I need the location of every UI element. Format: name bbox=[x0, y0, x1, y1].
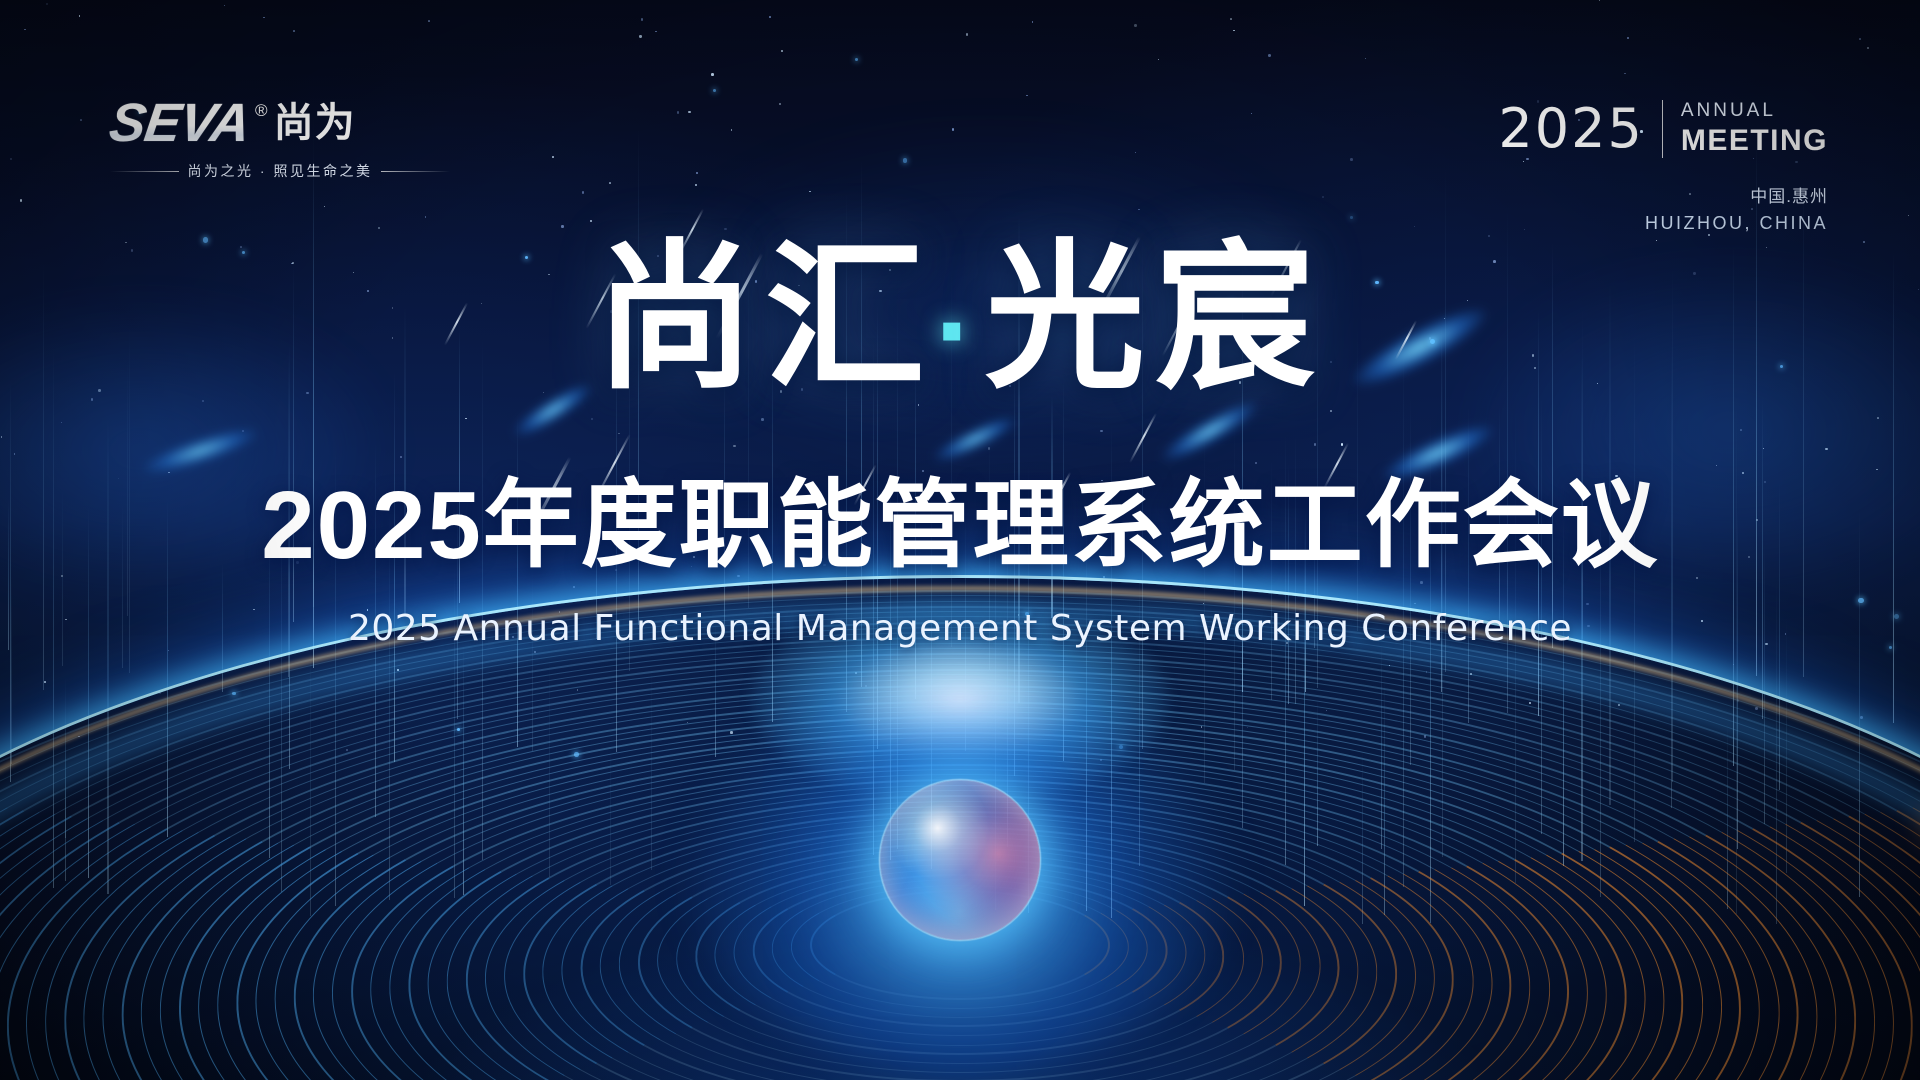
star bbox=[78, 736, 80, 738]
star bbox=[761, 418, 764, 421]
light-rain-streak bbox=[1786, 616, 1787, 873]
star bbox=[428, 20, 430, 22]
star bbox=[1867, 47, 1869, 49]
star bbox=[80, 119, 82, 121]
conference-banner: SEVA ® 尚为 尚为之光 · 照见生命之美 2025 ANNUAL MEET… bbox=[0, 0, 1920, 1080]
star bbox=[855, 58, 858, 61]
star bbox=[695, 184, 697, 186]
star bbox=[1251, 113, 1252, 114]
light-rain-streak bbox=[651, 663, 652, 870]
star bbox=[1255, 462, 1257, 464]
light-rain-streak bbox=[10, 379, 11, 782]
subtitle-chinese: 2025年度职能管理系统工作会议 bbox=[0, 478, 1920, 574]
light-rain-streak bbox=[1381, 642, 1382, 849]
star bbox=[1859, 38, 1861, 40]
star bbox=[263, 17, 264, 18]
star bbox=[639, 35, 641, 37]
star bbox=[24, 29, 25, 30]
star bbox=[1, 436, 3, 438]
star bbox=[159, 692, 161, 694]
star bbox=[711, 73, 714, 76]
star bbox=[1742, 472, 1744, 474]
headline-left: 尚汇 bbox=[595, 228, 935, 407]
star bbox=[293, 30, 295, 32]
star bbox=[1696, 577, 1698, 579]
star bbox=[224, 5, 225, 6]
page-title: 尚汇·光宸 bbox=[0, 238, 1920, 398]
star bbox=[1326, 710, 1327, 711]
star bbox=[688, 111, 691, 114]
star bbox=[1350, 158, 1353, 161]
light-rain-streak bbox=[517, 415, 518, 747]
star bbox=[591, 418, 593, 420]
headline-separator-dot: · bbox=[935, 264, 985, 398]
star bbox=[1424, 735, 1427, 738]
star bbox=[1032, 21, 1034, 23]
brand-wordmark: SEVA bbox=[106, 96, 253, 150]
star bbox=[641, 18, 643, 20]
meeting-annual-label: ANNUAL bbox=[1681, 101, 1828, 122]
star bbox=[1389, 665, 1390, 666]
star bbox=[1877, 417, 1879, 419]
star bbox=[242, 430, 244, 432]
star bbox=[1414, 226, 1415, 227]
star bbox=[457, 728, 460, 731]
star bbox=[618, 433, 620, 435]
light-rain-streak bbox=[65, 715, 66, 880]
star bbox=[1134, 24, 1137, 27]
star bbox=[573, 586, 575, 588]
star bbox=[1414, 603, 1416, 605]
star bbox=[1586, 603, 1588, 605]
star bbox=[1708, 234, 1710, 236]
star bbox=[687, 722, 688, 723]
star bbox=[730, 731, 733, 734]
star bbox=[1138, 209, 1140, 211]
meeting-label: MEETING bbox=[1681, 124, 1828, 157]
star bbox=[1618, 704, 1620, 706]
star bbox=[1268, 54, 1271, 57]
star bbox=[232, 692, 236, 696]
meeting-city-cn: 中国.惠州 bbox=[1498, 182, 1828, 207]
star bbox=[779, 103, 781, 105]
star bbox=[1026, 95, 1027, 96]
star bbox=[809, 191, 810, 192]
star bbox=[400, 456, 402, 458]
star bbox=[324, 206, 326, 208]
star bbox=[1233, 30, 1235, 32]
star bbox=[1230, 18, 1232, 20]
star bbox=[1365, 58, 1366, 59]
light-rain-streak bbox=[1410, 397, 1411, 765]
star bbox=[609, 182, 611, 184]
star bbox=[1420, 581, 1423, 584]
logo-row: SEVA ® 尚为 bbox=[110, 96, 450, 150]
star bbox=[781, 50, 783, 52]
light-rain-streak bbox=[463, 644, 464, 895]
star bbox=[1624, 73, 1625, 74]
star bbox=[1341, 443, 1343, 445]
star bbox=[966, 33, 968, 35]
star bbox=[1314, 443, 1317, 446]
star bbox=[590, 220, 592, 222]
meeting-meta-top: 2025 ANNUAL MEETING bbox=[1498, 100, 1828, 158]
star bbox=[677, 111, 679, 113]
brand-name-cn: 尚为 bbox=[274, 102, 356, 144]
brand-logo[interactable]: SEVA ® 尚为 尚为之光 · 照见生命之美 bbox=[110, 96, 450, 181]
star bbox=[534, 651, 536, 653]
star bbox=[91, 398, 94, 401]
star bbox=[378, 227, 380, 229]
tagline-text: 尚为之光 · 照见生命之美 bbox=[188, 161, 373, 181]
star bbox=[14, 453, 15, 454]
star bbox=[1158, 59, 1159, 60]
star bbox=[1876, 469, 1878, 471]
light-rain-streak bbox=[1671, 341, 1672, 808]
star bbox=[561, 225, 563, 227]
meta-divider bbox=[1662, 100, 1663, 158]
star bbox=[574, 752, 579, 757]
star bbox=[1135, 152, 1136, 153]
star bbox=[1740, 429, 1742, 431]
star bbox=[733, 445, 736, 448]
light-rain-streak bbox=[482, 336, 483, 859]
star bbox=[10, 158, 13, 161]
star bbox=[168, 472, 169, 473]
light-rain-streak bbox=[1727, 723, 1728, 909]
light-rain-streak bbox=[1384, 678, 1385, 915]
tagline-rule-right bbox=[381, 171, 450, 172]
brand-tagline: 尚为之光 · 照见生命之美 bbox=[110, 161, 450, 181]
star bbox=[1755, 707, 1758, 710]
light-rain-streak bbox=[1362, 749, 1363, 924]
tagline-rule-left bbox=[110, 171, 179, 172]
comet-wisp-4 bbox=[931, 411, 1020, 467]
star bbox=[696, 172, 699, 175]
star bbox=[1322, 196, 1324, 198]
star bbox=[425, 216, 427, 218]
star bbox=[79, 15, 80, 16]
star bbox=[168, 650, 169, 651]
star bbox=[1330, 410, 1332, 412]
star bbox=[1201, 726, 1202, 727]
light-rain-streak bbox=[1764, 544, 1765, 824]
star bbox=[1350, 216, 1353, 219]
star bbox=[769, 16, 771, 18]
light-rain-streak bbox=[310, 645, 311, 917]
star bbox=[1716, 465, 1717, 466]
star bbox=[577, 689, 578, 690]
star bbox=[1470, 673, 1472, 675]
star bbox=[731, 129, 733, 131]
light-rain-streak bbox=[1442, 334, 1443, 857]
star bbox=[61, 422, 62, 423]
star bbox=[346, 749, 348, 751]
meeting-words: ANNUAL MEETING bbox=[1681, 101, 1828, 157]
star bbox=[397, 669, 399, 671]
light-rain-streak bbox=[532, 568, 533, 751]
center-orb-rim bbox=[879, 779, 1041, 941]
star bbox=[1908, 215, 1909, 216]
star bbox=[1100, 430, 1102, 432]
star bbox=[1529, 702, 1531, 704]
star bbox=[582, 191, 584, 193]
star bbox=[713, 89, 716, 92]
meeting-year: 2025 bbox=[1498, 102, 1643, 156]
star bbox=[1860, 716, 1863, 719]
star bbox=[552, 156, 554, 158]
light-rain-streak bbox=[610, 742, 611, 885]
star bbox=[44, 681, 46, 683]
star bbox=[465, 418, 466, 419]
star bbox=[202, 400, 204, 402]
headline-right: 光宸 bbox=[985, 228, 1325, 407]
star bbox=[655, 31, 657, 33]
star bbox=[1627, 37, 1629, 39]
star bbox=[903, 158, 907, 162]
star bbox=[1426, 671, 1427, 672]
star bbox=[1599, 0, 1600, 1]
star bbox=[1488, 235, 1490, 237]
star bbox=[46, 3, 49, 6]
star bbox=[20, 199, 22, 201]
star bbox=[1247, 727, 1248, 728]
meeting-city-en: HUIZHOU, CHINA bbox=[1498, 213, 1828, 234]
star bbox=[952, 128, 954, 130]
subtitle-english: 2025 Annual Functional Management System… bbox=[0, 608, 1920, 649]
star bbox=[1825, 448, 1828, 451]
light-rain-streak bbox=[549, 654, 550, 877]
light-rain-streak bbox=[1634, 331, 1635, 842]
meeting-meta: 2025 ANNUAL MEETING 中国.惠州 HUIZHOU, CHINA bbox=[1498, 100, 1828, 234]
registered-trademark-icon: ® bbox=[255, 102, 268, 119]
light-rain-streak bbox=[1317, 699, 1318, 846]
